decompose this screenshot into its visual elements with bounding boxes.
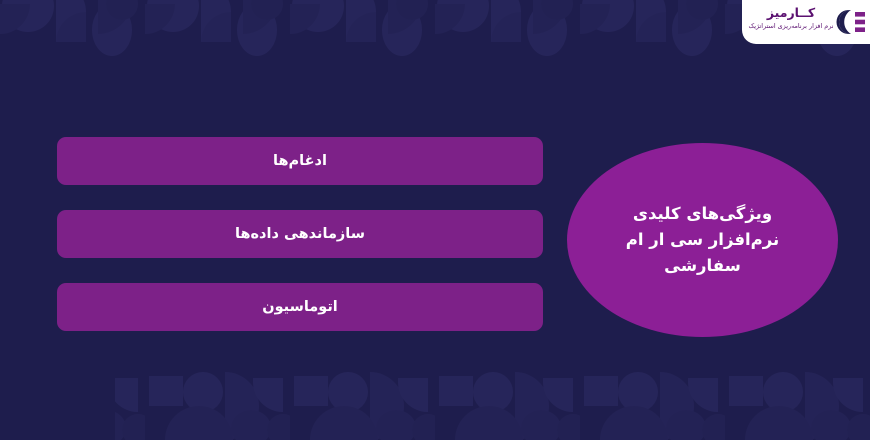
logo-brand-name: کــارمیز: [748, 5, 834, 20]
spacer: [57, 258, 543, 283]
slide-canvas: کــارمیز نرم افزار برنامه‌ریزی استراتژیک…: [0, 0, 870, 440]
feature-button-automation[interactable]: اتوماسیون: [57, 283, 543, 331]
spacer: [57, 185, 543, 210]
c-bracket-bars-icon: [836, 7, 866, 37]
headline-text: ویژگی‌های کلیدی نرم‌افزار سی ار ام سفارش…: [608, 201, 798, 279]
logo-text-block: کــارمیز نرم افزار برنامه‌ریزی استراتژیک: [748, 5, 834, 32]
headline-line-1: ویژگی‌های کلیدی: [626, 201, 780, 227]
brand-logo[interactable]: کــارمیز نرم افزار برنامه‌ریزی استراتژیک: [742, 0, 870, 44]
feature-button-data-organization[interactable]: سازماندهی داده‌ها: [57, 210, 543, 258]
headline-ellipse: ویژگی‌های کلیدی نرم‌افزار سی ار ام سفارش…: [567, 143, 838, 337]
headline-line-3: سفارشی: [626, 253, 780, 279]
background-pattern-bottom: [0, 370, 870, 440]
feature-button-integrations[interactable]: ادغام‌ها: [57, 137, 543, 185]
headline-line-2: نرم‌افزار سی ار ام: [626, 227, 780, 253]
background-pattern-top: [0, 0, 870, 56]
feature-button-list: ادغام‌ها سازماندهی داده‌ها اتوماسیون: [57, 137, 543, 331]
logo-tagline: نرم افزار برنامه‌ریزی استراتژیک: [748, 21, 834, 32]
